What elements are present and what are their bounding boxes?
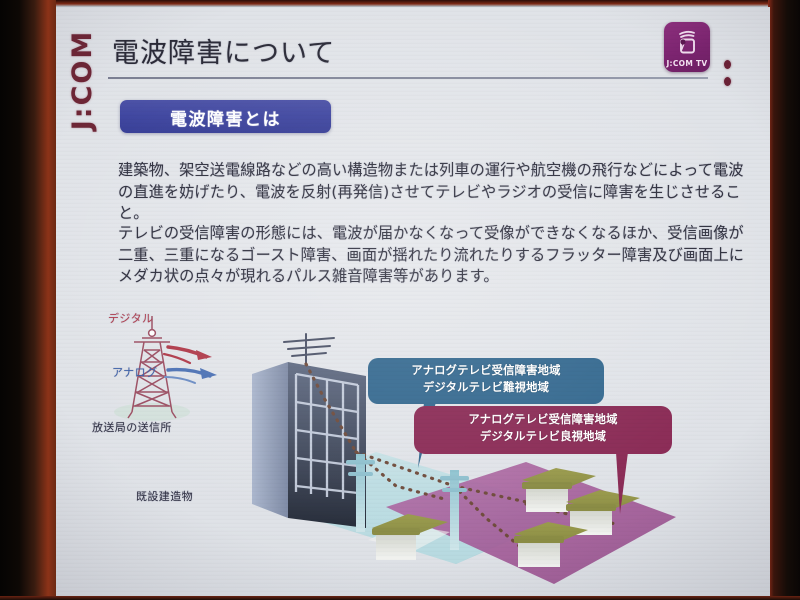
diagram-caption-transmitter: 放送局の送信所	[92, 419, 172, 435]
analog-wave-arrow	[165, 368, 217, 383]
decor-dot-upper	[724, 60, 731, 69]
section-banner-label: 電波障害とは	[120, 105, 331, 130]
projected-screen-frame: J:COM 電波障害について J:COM TV 電波障害とは 建築物、架空送電線…	[0, 0, 800, 600]
section-banner: 電波障害とは	[120, 100, 331, 133]
frame-edge-top	[0, 0, 800, 7]
diagram-caption-building: 既設建造物	[136, 488, 193, 504]
title-underline-rule	[108, 77, 708, 79]
callout-shadow-zone-line2: デジタルテレビ難視地域	[368, 381, 604, 396]
existing-building-icon	[252, 334, 366, 528]
tv-antenna-glyph	[672, 27, 702, 57]
frame-edge-right	[768, 0, 800, 600]
digital-wave-arrow	[164, 347, 212, 363]
body-paragraph-2: テレビの受信障害の形態には、電波が届かなくなって受像ができなくなるほか、受信画像…	[118, 223, 748, 288]
diagram-label-digital: デジタル	[108, 310, 153, 326]
diagram-label-analog: アナログ	[112, 364, 157, 380]
callout-good-zone-line2: デジタルテレビ良視地域	[414, 430, 672, 445]
frame-edge-left	[0, 0, 56, 600]
frame-edge-bottom	[0, 596, 800, 600]
decor-dot-lower	[724, 77, 731, 86]
callout-shadow-zone-line1: アナログテレビ受信障害地域	[368, 364, 604, 379]
jcom-brand-logo: J:COM	[66, 25, 100, 135]
callout-good-zone-line1: アナログテレビ受信障害地域	[414, 413, 672, 428]
jcom-tv-badge-icon: J:COM TV	[664, 22, 710, 72]
interference-diagram: デジタル アナログ 放送局の送信所 既設建造物 アナログテレビ受信障害地域 デジ…	[56, 302, 770, 596]
page-title: 電波障害について	[112, 31, 335, 70]
presentation-slide: J:COM 電波障害について J:COM TV 電波障害とは 建築物、架空送電線…	[56, 7, 770, 596]
body-paragraph-1: 建築物、架空送電線路などの高い構造物または列車の運行や航空機の飛行などによって電…	[118, 160, 748, 225]
diagram-canvas	[56, 302, 770, 596]
jcom-tv-badge-label: J:COM TV	[664, 59, 710, 68]
